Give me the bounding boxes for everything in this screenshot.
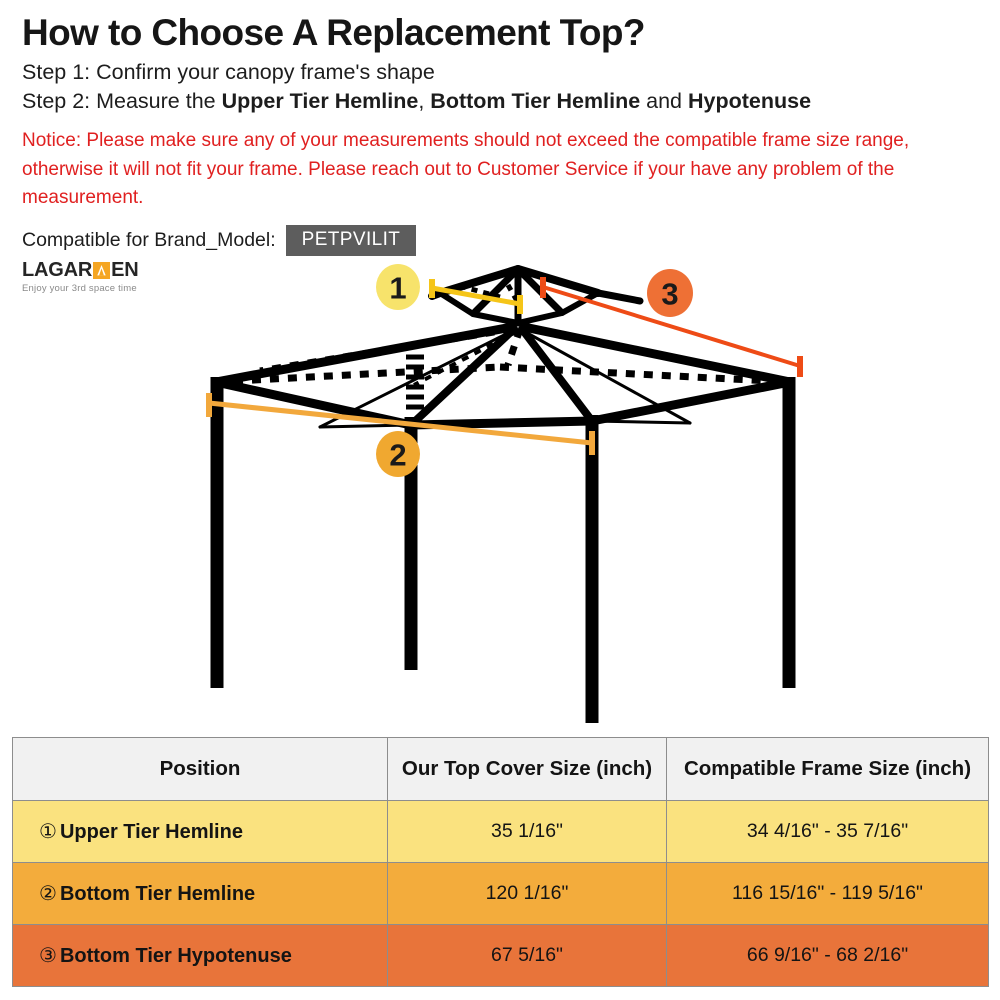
gazebo-frame-diagram: 1 2 3	[0, 245, 1000, 735]
row-position-label-1: Upper Tier Hemline	[60, 821, 243, 843]
marker-2: 2	[376, 431, 420, 477]
marker-1-label: 1	[389, 271, 406, 306]
cell-position-1: ①Upper Tier Hemline	[13, 801, 388, 863]
step-2-sep-1: ,	[418, 89, 430, 113]
cell-our-size-2: 120 1/16"	[388, 863, 667, 925]
marker-3-label: 3	[661, 277, 678, 312]
marker-3: 3	[647, 269, 693, 317]
marker-1: 1	[376, 264, 420, 310]
frame-legs	[217, 377, 789, 723]
step-2-line: Step 2: Measure the Upper Tier Hemline, …	[22, 87, 982, 117]
page-title: How to Choose A Replacement Top?	[22, 14, 982, 52]
eave-beams	[216, 382, 790, 425]
step-2-term-hypotenuse: Hypotenuse	[688, 89, 811, 113]
step-2-prefix: Step 2: Measure the	[22, 89, 222, 113]
column-header-frame-size: Compatible Frame Size (inch)	[667, 738, 989, 801]
row-position-label-3: Bottom Tier Hypotenuse	[60, 945, 292, 967]
step-2-sep-2: and	[640, 89, 688, 113]
notice-text: Notice: Please make sure any of your mea…	[22, 127, 967, 213]
row-marker-1: ①	[39, 821, 57, 843]
column-header-position: Position	[13, 738, 388, 801]
cell-position-2: ②Bottom Tier Hemline	[13, 863, 388, 925]
table-row: ②Bottom Tier Hemline 120 1/16" 116 15/16…	[13, 863, 989, 925]
cell-frame-size-1: 34 4/16" - 35 7/16"	[667, 801, 989, 863]
marker-2-label: 2	[389, 438, 406, 473]
table-row: ③Bottom Tier Hypotenuse 67 5/16" 66 9/16…	[13, 925, 989, 987]
cell-frame-size-2: 116 15/16" - 119 5/16"	[667, 863, 989, 925]
step-2-term-upper: Upper Tier Hemline	[222, 89, 419, 113]
row-position-label-2: Bottom Tier Hemline	[60, 883, 255, 905]
cell-frame-size-3: 66 9/16" - 68 2/16"	[667, 925, 989, 987]
cell-our-size-1: 35 1/16"	[388, 801, 667, 863]
table-row: ①Upper Tier Hemline 35 1/16" 34 4/16" - …	[13, 801, 989, 863]
row-marker-3: ③	[39, 945, 57, 967]
table-header-row: Position Our Top Cover Size (inch) Compa…	[13, 738, 989, 801]
row-marker-2: ②	[39, 883, 57, 905]
step-2-term-bottom: Bottom Tier Hemline	[430, 89, 640, 113]
header-block: How to Choose A Replacement Top? Step 1:…	[22, 14, 982, 256]
step-1-line: Step 1: Confirm your canopy frame's shap…	[22, 58, 982, 88]
column-header-our-size: Our Top Cover Size (inch)	[388, 738, 667, 801]
cell-position-3: ③Bottom Tier Hypotenuse	[13, 925, 388, 987]
cell-our-size-3: 67 5/16"	[388, 925, 667, 987]
measurement-spec-table: Position Our Top Cover Size (inch) Compa…	[12, 737, 989, 987]
